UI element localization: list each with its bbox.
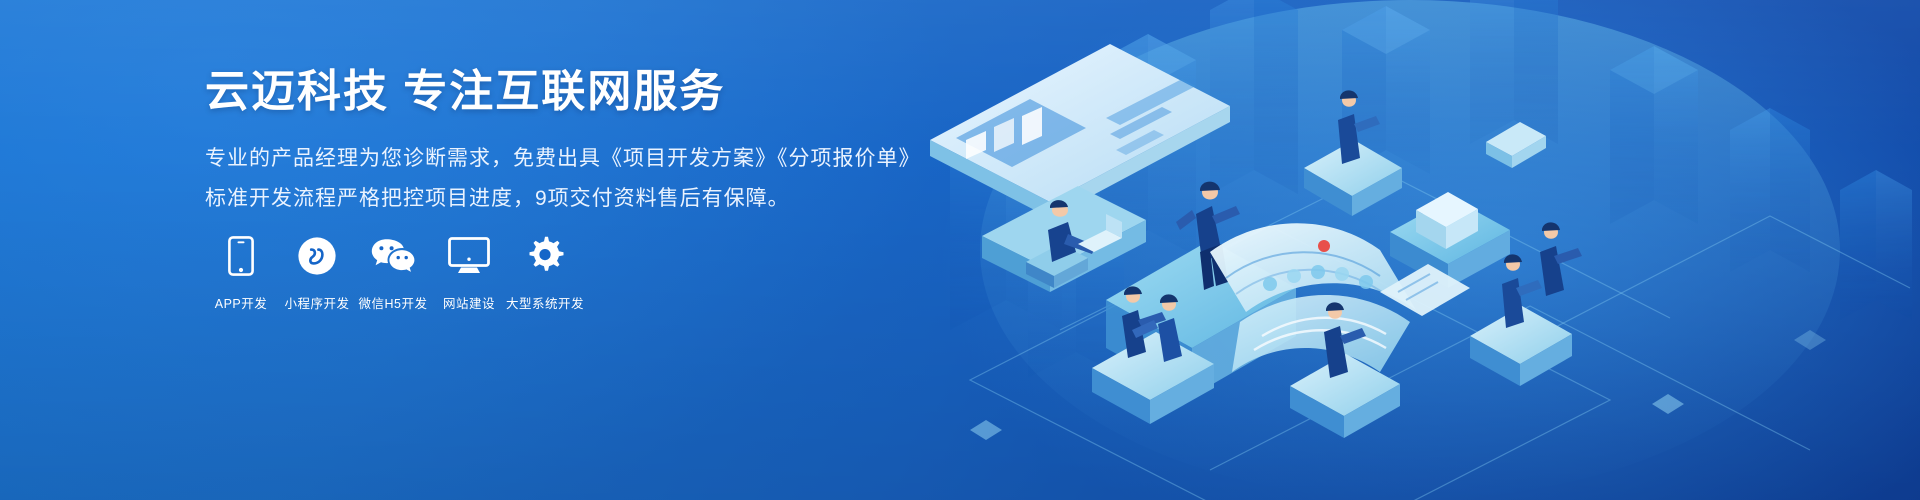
- hero-copy: 云迈科技 专注互联网服务 专业的产品经理为您诊断需求，免费出具《项目开发方案》《…: [205, 66, 921, 219]
- wechat-icon: [370, 232, 416, 280]
- isometric-scene-svg: [910, 0, 1920, 500]
- monitor-icon: [448, 232, 490, 280]
- gear-icon: [525, 232, 565, 280]
- mini-program-icon: [297, 232, 337, 280]
- service-label: 大型系统开发: [506, 293, 584, 312]
- service-label: APP开发: [215, 293, 268, 312]
- service-label: 网站建设: [443, 293, 495, 312]
- service-item-wechat-h5[interactable]: 微信H5开发: [357, 232, 429, 312]
- service-item-website[interactable]: 网站建设: [433, 232, 505, 312]
- mobile-phone-icon: [228, 232, 254, 280]
- hero-illustration: [910, 0, 1920, 500]
- subtitle-line-1: 专业的产品经理为您诊断需求，免费出具《项目开发方案》《分项报价单》: [205, 139, 921, 179]
- hero-subtitle: 专业的产品经理为您诊断需求，免费出具《项目开发方案》《分项报价单》 标准开发流程…: [205, 139, 921, 219]
- page-title: 云迈科技 专注互联网服务: [205, 66, 921, 119]
- service-item-app[interactable]: APP开发: [205, 232, 277, 312]
- service-label: 微信H5开发: [359, 293, 428, 312]
- service-item-large-system[interactable]: 大型系统开发: [509, 232, 581, 312]
- service-list: APP开发 小程序开发 微信: [205, 232, 585, 312]
- service-item-mini-program[interactable]: 小程序开发: [281, 232, 353, 312]
- hero-banner: 云迈科技 专注互联网服务 专业的产品经理为您诊断需求，免费出具《项目开发方案》《…: [0, 0, 1920, 500]
- subtitle-line-2: 标准开发流程严格把控项目进度，9项交付资料售后有保障。: [205, 179, 921, 219]
- service-label: 小程序开发: [284, 293, 349, 312]
